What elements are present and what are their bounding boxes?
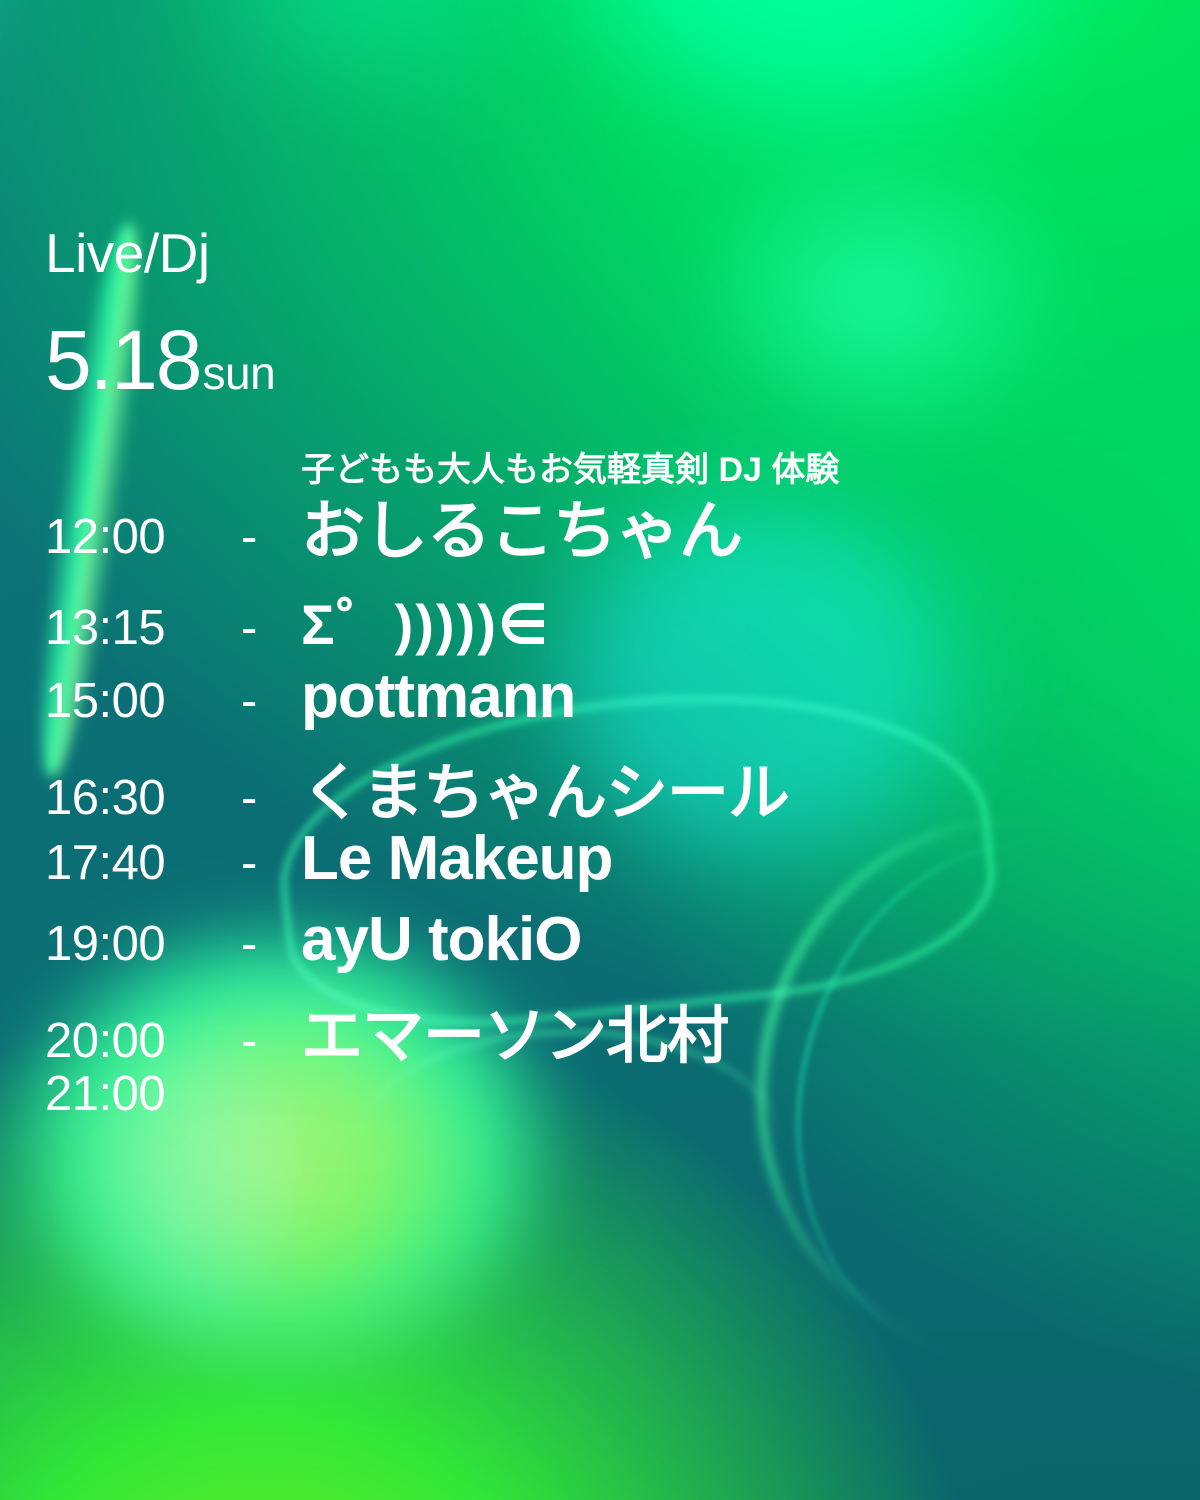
lineup-time: 20:00 (45, 1013, 241, 1069)
lineup-end-row: 21:00 (45, 1066, 1165, 1147)
lineup-artist: くまちゃんシール (301, 742, 789, 832)
lineup-dash: - (241, 770, 301, 826)
date-dayofweek: sun (203, 350, 276, 396)
lineup-time: 12:00 (45, 509, 241, 565)
lineup-artist: Σ゜)))))∈ (301, 580, 550, 661)
lineup-artist: ayU tokiO (301, 904, 581, 975)
lineup-row: 15:00 - pottmann (45, 661, 1165, 742)
lineup-end-time: 21:00 (45, 1066, 241, 1122)
lineup-list: 子どもも大人もお気軽真剣 DJ 体験 12:00 - おしるこちゃん 13:15… (45, 480, 1165, 1147)
lineup-artist: おしるこちゃん (301, 480, 742, 572)
date-number: 5.18 (45, 318, 201, 402)
lineup-time: 16:30 (45, 770, 241, 826)
lineup-dash: - (241, 600, 301, 656)
lineup-time: 15:00 (45, 673, 241, 729)
lineup-row: 16:30 - くまちゃんシール (45, 742, 1165, 823)
lineup-artist: エマーソン北村 (301, 985, 728, 1075)
event-poster: Live/Dj 5.18 sun 子どもも大人もお気軽真剣 DJ 体験 12:0… (0, 0, 1200, 1500)
poster-date: 5.18 sun (45, 318, 275, 402)
lineup-row: 20:00 - エマーソン北村 (45, 985, 1165, 1066)
lineup-note: 子どもも大人もお気軽真剣 DJ 体験 (301, 442, 839, 491)
lineup-row: 13:15 - Σ゜)))))∈ (45, 580, 1165, 661)
lineup-time: 19:00 (45, 916, 241, 972)
lineup-dash: - (241, 673, 301, 729)
lineup-dash: - (241, 1013, 301, 1069)
poster-kicker: Live/Dj (45, 226, 210, 281)
poster-content: Live/Dj 5.18 sun 子どもも大人もお気軽真剣 DJ 体験 12:0… (0, 0, 1200, 1500)
lineup-dash: - (241, 835, 301, 891)
lineup-dash: - (241, 509, 301, 565)
lineup-row: 19:00 - ayU tokiO (45, 904, 1165, 985)
lineup-row: 子どもも大人もお気軽真剣 DJ 体験 12:00 - おしるこちゃん (45, 480, 1165, 580)
lineup-artist: Le Makeup (301, 823, 612, 894)
lineup-artist: pottmann (301, 661, 575, 732)
lineup-dash: - (241, 916, 301, 972)
lineup-row: 17:40 - Le Makeup (45, 823, 1165, 904)
lineup-time: 17:40 (45, 835, 241, 891)
lineup-time: 13:15 (45, 600, 241, 656)
